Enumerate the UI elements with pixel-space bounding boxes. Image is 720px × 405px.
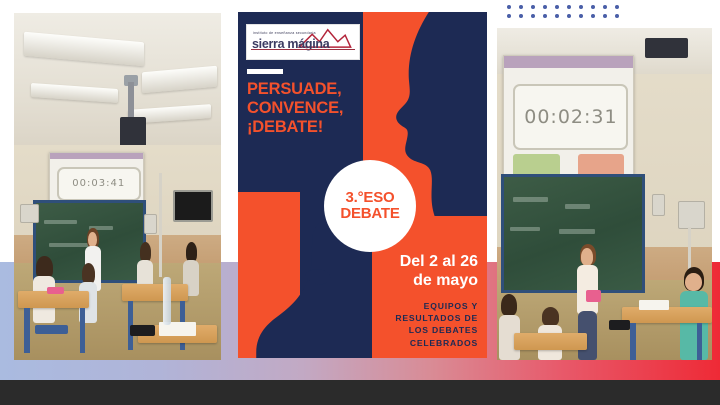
dot [615, 5, 619, 9]
student-desk [122, 284, 188, 301]
hair [542, 307, 559, 326]
info-line-2: RESULTADOS DE [344, 312, 478, 324]
dot [555, 5, 559, 9]
dot [519, 5, 523, 9]
dot [603, 14, 607, 18]
water-bottle [163, 277, 171, 326]
classroom-scene-left: 00:03:41 [14, 13, 221, 360]
timer-display-right: 00:02:31 [513, 84, 628, 150]
wall-switch-icon [144, 214, 156, 233]
school-logo: instituto de enseñanza secundaria sierra… [246, 24, 360, 60]
held-notes [586, 290, 601, 302]
screen-header-bar [504, 56, 633, 69]
dot [579, 14, 583, 18]
chalk-mark [510, 227, 540, 232]
classroom-scene-right: 00:02:31 [497, 28, 712, 360]
dot [579, 5, 583, 9]
info-line-1: EQUIPOS Y [344, 300, 478, 312]
dot [507, 14, 511, 18]
paper-sheet [639, 300, 669, 310]
desk-leg [24, 308, 29, 353]
wall-speaker-icon [652, 194, 665, 216]
dot-row [507, 5, 619, 9]
head [581, 248, 593, 265]
desk-leg [697, 323, 702, 360]
dot [591, 5, 595, 9]
dot [531, 14, 535, 18]
chalk-mark [565, 204, 590, 209]
timer-display-left: 00:03:41 [57, 167, 141, 201]
dot [615, 14, 619, 18]
wall-speaker-icon [20, 204, 39, 223]
torso [680, 291, 708, 360]
torso [577, 265, 598, 314]
badge-line-1: 3.°ESO [346, 190, 395, 206]
chalk-mark [559, 229, 595, 234]
projector-icon [120, 117, 147, 148]
chalk-mark [44, 220, 76, 224]
chair [35, 325, 68, 334]
chalk-mark [513, 197, 549, 202]
head [88, 232, 97, 247]
timer-value: 00:03:41 [72, 178, 125, 189]
pink-paper [47, 287, 64, 294]
debate-poster: instituto de enseñanza secundaria sierra… [238, 12, 487, 358]
classroom-photo-right: 00:02:31 [497, 28, 712, 360]
dot [543, 5, 547, 9]
poster-badge: 3.°ESO DEBATE [324, 160, 416, 252]
dot [531, 5, 535, 9]
projector-icon [645, 38, 688, 58]
dot [603, 5, 607, 9]
calculator [130, 325, 155, 335]
student-desk [514, 333, 587, 350]
dot [591, 14, 595, 18]
desk-leg [630, 323, 635, 360]
screen-header-bar [50, 153, 143, 159]
bottom-dark-band [0, 380, 720, 405]
dot [567, 5, 571, 9]
hair [82, 263, 95, 284]
poster-headline: PERSUADE, CONVENCE, ¡DEBATE! [247, 80, 387, 137]
dot [543, 14, 547, 18]
badge-line-2: DEBATE [340, 206, 399, 222]
dot [507, 5, 511, 9]
info-line-3: LOS DEBATES [344, 324, 478, 336]
wall-monitor-icon [173, 190, 212, 222]
headline-divider [247, 69, 283, 74]
dot-decoration [507, 5, 619, 21]
dates-line-2: de mayo [344, 271, 478, 290]
projection-screen-right: 00:02:31 [503, 55, 634, 186]
poster-info: EQUIPOS Y RESULTADOS DE LOS DEBATES CELE… [344, 300, 478, 349]
slide-canvas: 00:03:41 [0, 0, 720, 405]
logo-subtitle: instituto de enseñanza secundaria [253, 31, 353, 35]
hair [501, 294, 516, 317]
logo-underline [251, 49, 355, 50]
dot [567, 14, 571, 18]
headline-line-3: ¡DEBATE! [247, 118, 387, 137]
seated-student [497, 294, 523, 360]
headline-line-1: PERSUADE, [247, 80, 387, 99]
head [685, 273, 702, 292]
dates-line-1: Del 2 al 26 [344, 252, 478, 271]
timer-value: 00:02:31 [524, 106, 617, 128]
poster-dates: Del 2 al 26 de mayo [344, 252, 478, 290]
screen-pole [159, 173, 162, 277]
dot-row [507, 14, 619, 18]
headline-line-2: CONVENCE, [247, 99, 387, 118]
pencil-case [609, 320, 631, 330]
dot [555, 14, 559, 18]
desk-leg [80, 308, 85, 353]
wall-panel-icon [678, 201, 706, 230]
classroom-photo-left: 00:03:41 [14, 13, 221, 360]
info-line-4: CELEBRADOS [344, 337, 478, 349]
dot [519, 14, 523, 18]
